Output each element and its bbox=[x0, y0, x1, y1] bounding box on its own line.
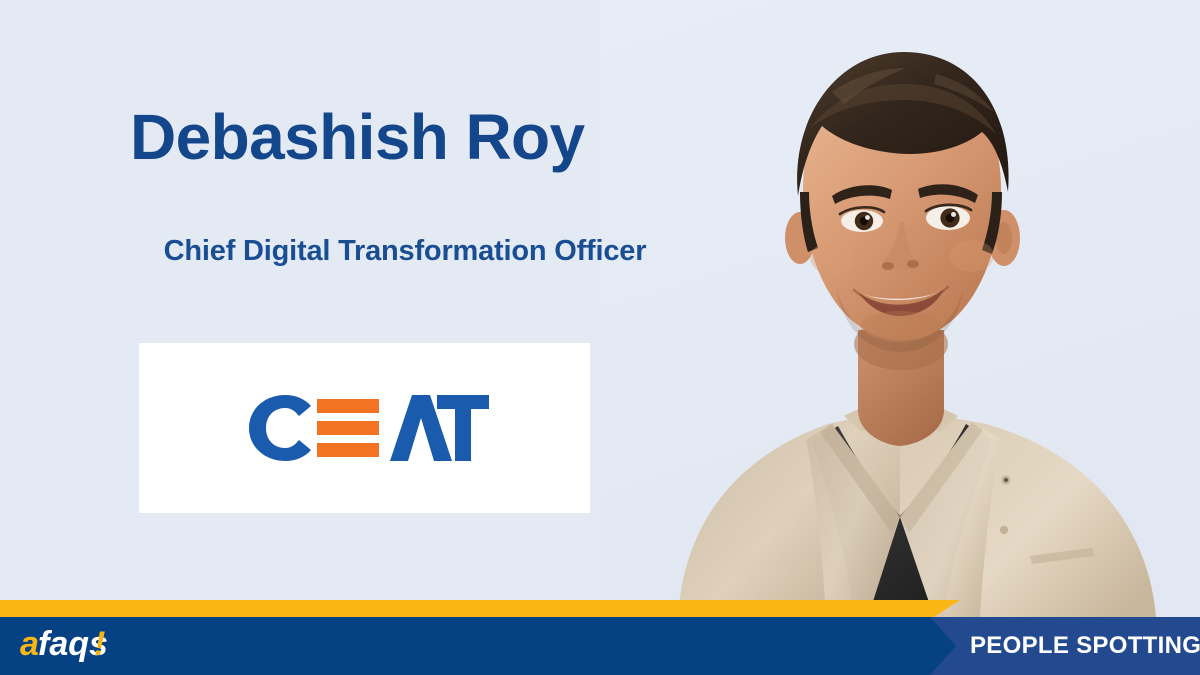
afaqs-exclamation: ! bbox=[94, 625, 105, 663]
person-photo bbox=[600, 0, 1200, 617]
page-title: Debashish Roy bbox=[130, 104, 730, 171]
company-logo-plate bbox=[139, 343, 590, 513]
people-spotting-card: Debashish Roy Chief Digital Transformati… bbox=[0, 0, 1200, 675]
afaqs-logo[interactable]: a faqs ! bbox=[18, 625, 114, 665]
ceat-logo bbox=[241, 392, 489, 464]
people-spotting-label: PEOPLE SPOTTING bbox=[970, 617, 1200, 675]
afaqs-letter-a: a bbox=[20, 625, 39, 663]
person-designation: Chief Digital Transformation Officer bbox=[85, 235, 725, 268]
footer-accent-bar bbox=[0, 600, 960, 617]
